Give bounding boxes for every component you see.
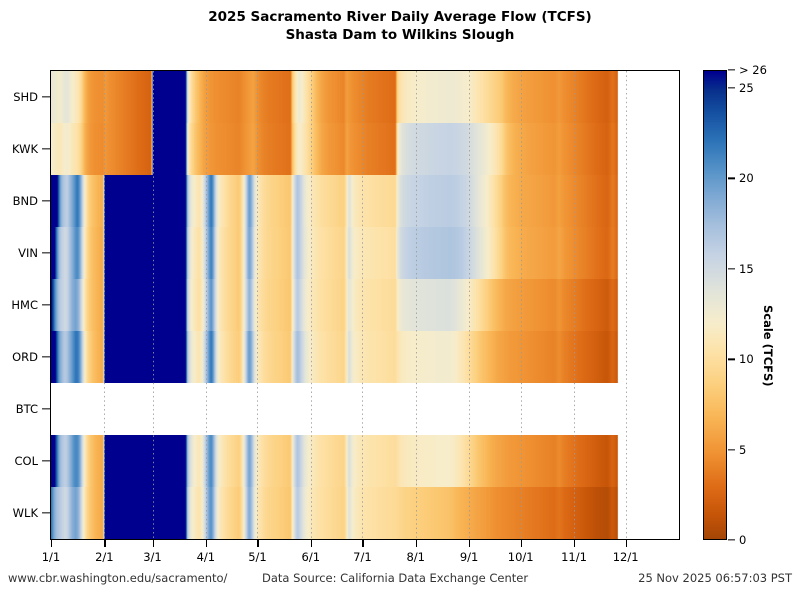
x-tick-8-1 [416, 540, 417, 547]
colorbar-label-15: 15 [739, 262, 754, 276]
heatmap-row-shd [51, 71, 679, 123]
x-tick-12-1 [626, 540, 627, 547]
y-tick-hmc [42, 304, 50, 305]
colorbar-tick-5 [728, 449, 735, 450]
chart-title: 2025 Sacramento River Daily Average Flow… [0, 8, 800, 44]
x-tick-5-1 [257, 540, 258, 547]
x-axis-label-3-1: 3/1 [143, 550, 162, 564]
y-tick-col [42, 460, 50, 461]
colorbar-label-10: 10 [739, 352, 754, 366]
x-tick-7-1 [362, 540, 363, 547]
colorbar-label-5: 5 [739, 443, 746, 457]
heatmap-row-ord [51, 331, 679, 383]
heatmap-row-wlk [51, 487, 679, 539]
heatmap-row-vin [51, 227, 679, 279]
y-axis-label-col: COL [0, 454, 38, 468]
x-axis-label-1-1: 1/1 [42, 550, 61, 564]
y-axis-label-wlk: WLK [0, 506, 38, 520]
x-axis-label-6-1: 6/1 [302, 550, 321, 564]
colorbar-tick-26 [728, 69, 735, 70]
heatmap-cells [51, 71, 679, 539]
x-axis-label-10-1: 10/1 [508, 550, 534, 564]
x-tick-11-1 [574, 540, 575, 547]
y-axis-label-hmc: HMC [0, 298, 38, 312]
footer-url[interactable]: www.cbr.washington.edu/sacramento/ [8, 571, 227, 585]
x-tick-9-1 [469, 540, 470, 547]
y-axis-label-vin: VIN [0, 246, 38, 260]
y-tick-shd [42, 96, 50, 97]
chart-title-line1: 2025 Sacramento River Daily Average Flow… [0, 8, 800, 26]
footer-data-source: Data Source: California Data Exchange Ce… [262, 571, 528, 585]
heatmap-row-btc [51, 383, 679, 435]
heatmap-row-kwk [51, 123, 679, 175]
chart-title-line2: Shasta Dam to Wilkins Slough [0, 26, 800, 44]
heatmap-plot-area [50, 70, 680, 540]
y-axis-label-btc: BTC [0, 402, 38, 416]
y-tick-kwk [42, 148, 50, 149]
colorbar-tick-10 [728, 359, 735, 360]
heatmap-row-col [51, 435, 679, 487]
x-tick-3-1 [153, 540, 154, 547]
colorbar-label-0: 0 [739, 533, 746, 547]
x-tick-4-1 [206, 540, 207, 547]
y-tick-vin [42, 252, 50, 253]
chart-figure: 2025 Sacramento River Daily Average Flow… [0, 0, 800, 600]
x-axis-label-11-1: 11/1 [561, 550, 587, 564]
colorbar-label-20: 20 [739, 171, 754, 185]
y-axis-label-ord: ORD [0, 350, 38, 364]
y-axis-label-bnd: BND [0, 194, 38, 208]
y-tick-btc [42, 408, 50, 409]
y-tick-wlk [42, 512, 50, 513]
x-tick-2-1 [104, 540, 105, 547]
x-axis-label-5-1: 5/1 [248, 550, 267, 564]
x-tick-1-1 [51, 540, 52, 547]
y-axis-label-kwk: KWK [0, 142, 38, 156]
x-tick-10-1 [521, 540, 522, 547]
colorbar-tick-0 [728, 539, 735, 540]
y-axis-label-shd: SHD [0, 90, 38, 104]
colorbar [703, 70, 727, 540]
colorbar-gradient [704, 71, 726, 539]
footer-timestamp: 25 Nov 2025 06:57:03 PST [638, 571, 792, 585]
heatmap-row-bnd [51, 175, 679, 227]
colorbar-tick-25 [728, 87, 735, 88]
colorbar-label-25: 25 [739, 81, 754, 95]
colorbar-title: Scale (TCFS) [761, 305, 775, 387]
x-axis-label-2-1: 2/1 [95, 550, 114, 564]
x-axis-label-8-1: 8/1 [406, 550, 425, 564]
x-axis-label-12-1: 12/1 [613, 550, 639, 564]
y-tick-ord [42, 356, 50, 357]
y-tick-bnd [42, 200, 50, 201]
x-axis-label-9-1: 9/1 [460, 550, 479, 564]
x-axis-label-4-1: 4/1 [197, 550, 216, 564]
heatmap-row-hmc [51, 279, 679, 331]
x-tick-6-1 [311, 540, 312, 547]
colorbar-tick-15 [728, 268, 735, 269]
colorbar-tick-20 [728, 178, 735, 179]
x-axis-label-7-1: 7/1 [353, 550, 372, 564]
colorbar-label-26: > 26 [739, 63, 767, 77]
